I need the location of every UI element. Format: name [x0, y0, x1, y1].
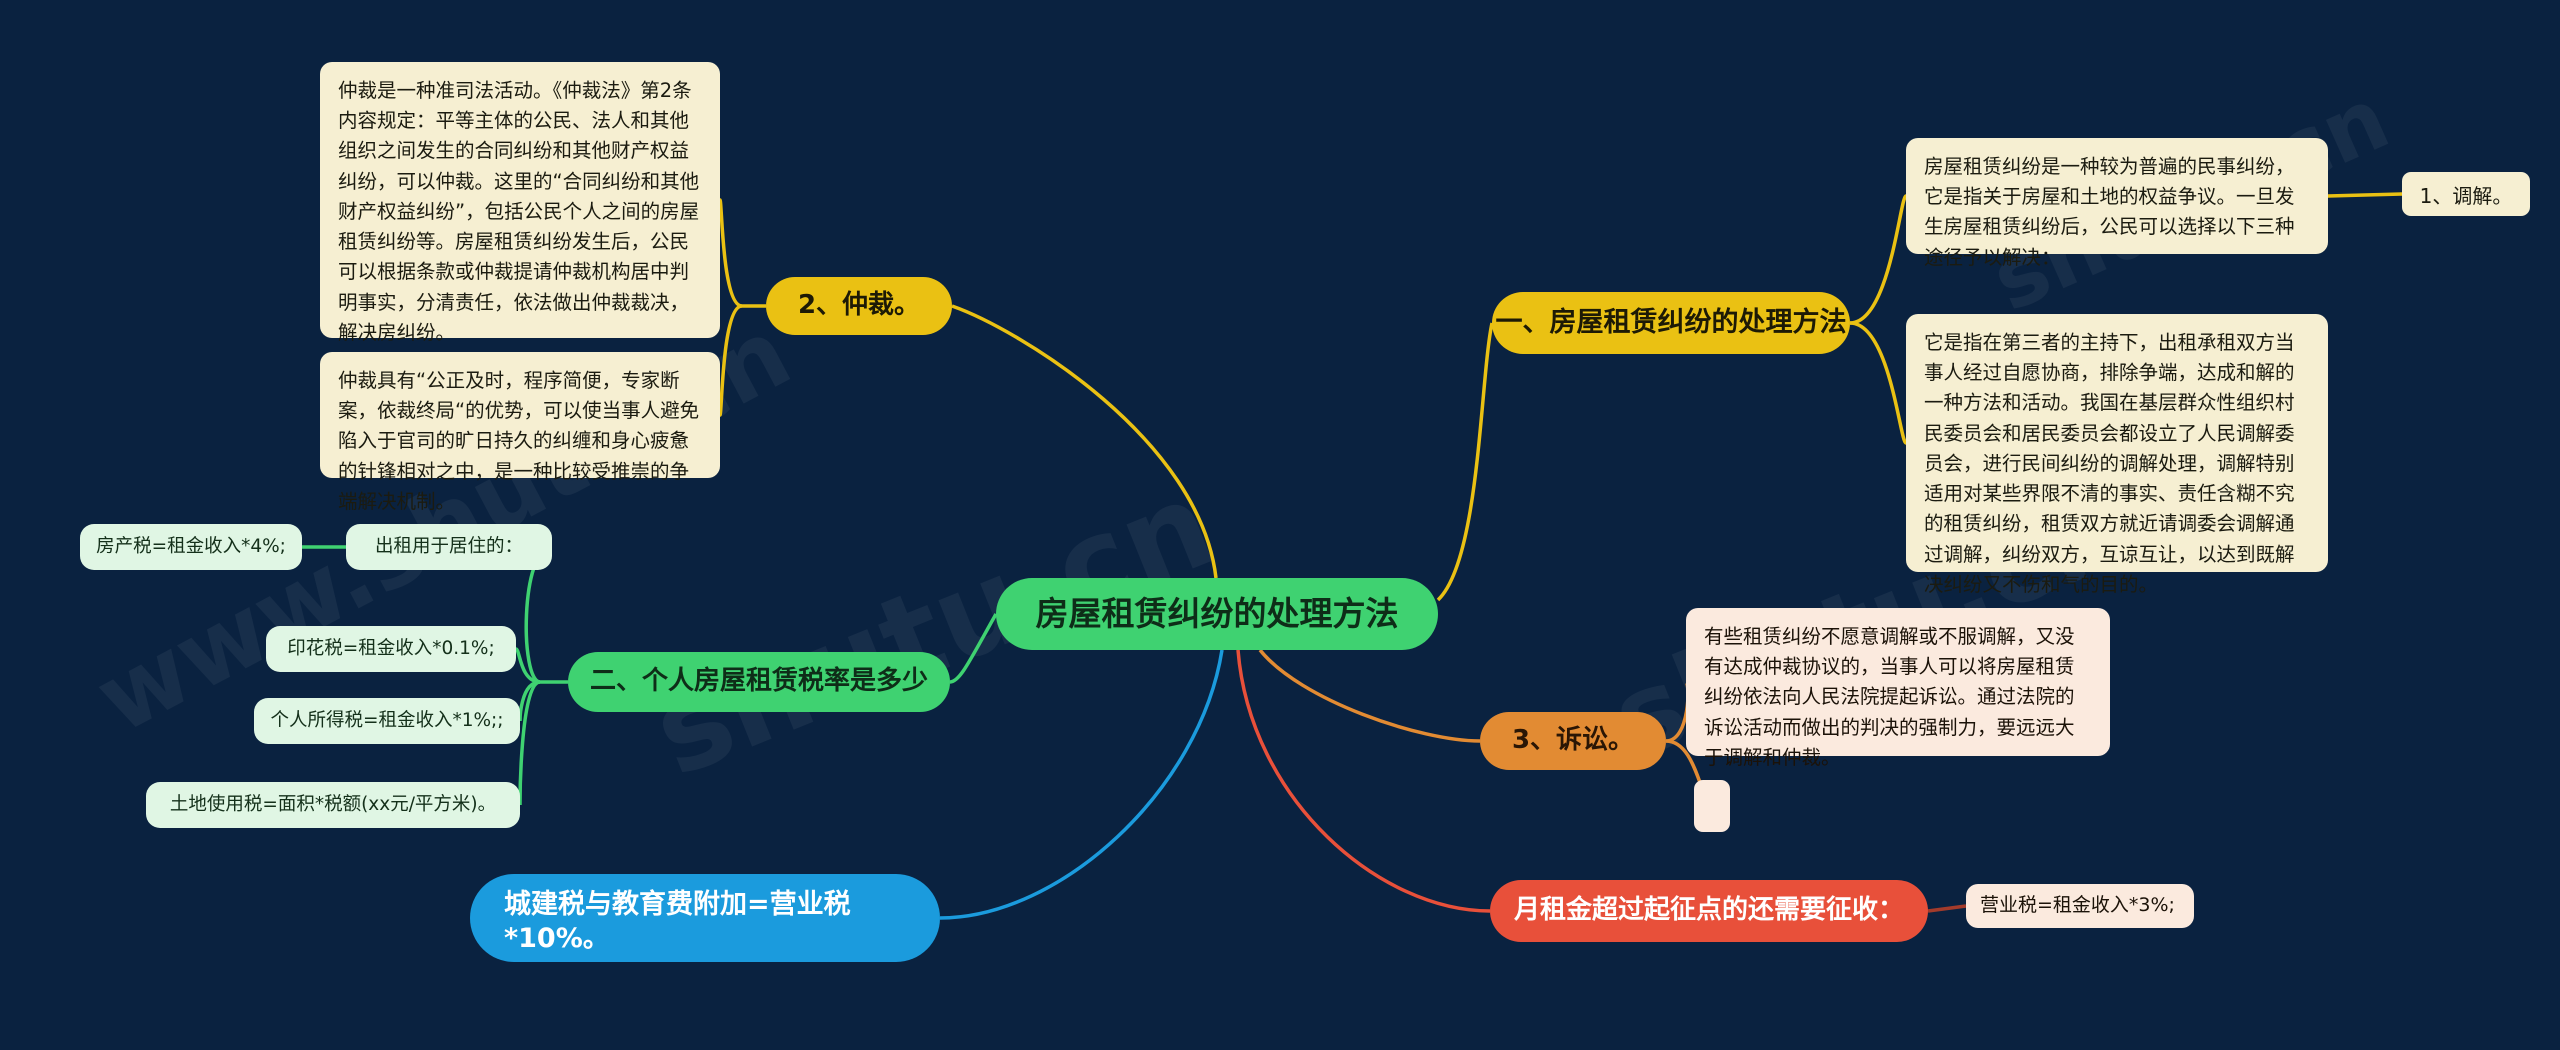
node-business-tax[interactable]: 营业税=租金收入*3%; — [1966, 884, 2194, 928]
node-litigation[interactable]: 3、诉讼。 — [1480, 712, 1666, 770]
node-land-use-tax[interactable]: 土地使用税=面积*税额(xx元/平方米)。 — [146, 782, 520, 828]
branch-node-red[interactable]: 月租金超过起征点的还需要征收： — [1490, 880, 1928, 942]
node-empty-placeholder[interactable] — [1694, 780, 1730, 832]
note-mediation-intro: 房屋租赁纠纷是一种较为普遍的民事纠纷，它是指关于房屋和土地的权益争议。一旦发生房… — [1906, 138, 2328, 254]
node-residential-rental[interactable]: 出租用于居住的： — [346, 524, 552, 570]
branch-node-gold[interactable]: 一、房屋租赁纠纷的处理方法 — [1492, 292, 1850, 354]
note-arbitration-definition: 仲裁是一种准司法活动。《仲裁法》第2条内容规定：平等主体的公民、法人和其他组织之… — [320, 62, 720, 338]
node-mediation[interactable]: 1、调解。 — [2402, 172, 2530, 216]
connector-mediation-label — [2328, 194, 2402, 196]
connector-green-stamp — [516, 649, 540, 682]
connector-root-red — [1238, 650, 1490, 911]
note-litigation-detail: 有些租赁纠纷不愿意调解或不服调解，又没有达成仲裁协议的，当事人可以将房屋租赁纠纷… — [1686, 608, 2110, 756]
node-stamp-tax[interactable]: 印花税=租金收入*0.1%; — [266, 626, 516, 672]
note-arbitration-advantages: 仲裁具有“公正及时，程序简便，专家断案，依裁终局“的优势，可以使当事人避免陷入于… — [320, 352, 720, 478]
node-property-tax[interactable]: 房产税=租金收入*4%; — [80, 524, 302, 570]
node-arbitration[interactable]: 2、仲裁。 — [766, 277, 952, 335]
connector-root-litigation — [1260, 650, 1480, 741]
connector-green-land — [520, 682, 540, 805]
branch-node-green[interactable]: 二、个人房屋租赁税率是多少 — [568, 652, 950, 712]
connector-gold-mediation2 — [1850, 323, 1906, 443]
mindmap-canvas: www.shutu.cn shutu.cn shutu.cn shutu.cn … — [0, 0, 2560, 1050]
connector-red-biztax — [1928, 906, 1966, 911]
connector-arb-notes — [720, 200, 766, 306]
connector-root-gold — [1438, 323, 1492, 600]
connector-root-blue — [940, 650, 1222, 918]
connector-gold-mediation — [1850, 196, 1906, 323]
root-node[interactable]: 房屋租赁纠纷的处理方法 — [996, 578, 1438, 650]
branch-node-blue[interactable]: 城建税与教育费附加=营业税*10%。 — [470, 874, 940, 962]
node-income-tax[interactable]: 个人所得税=租金收入*1%;; — [254, 698, 520, 744]
connector-green-income — [520, 682, 540, 721]
note-mediation-detail: 它是指在第三者的主持下，出租承租双方当事人经过自愿协商，排除争端，达成和解的一种… — [1906, 314, 2328, 572]
